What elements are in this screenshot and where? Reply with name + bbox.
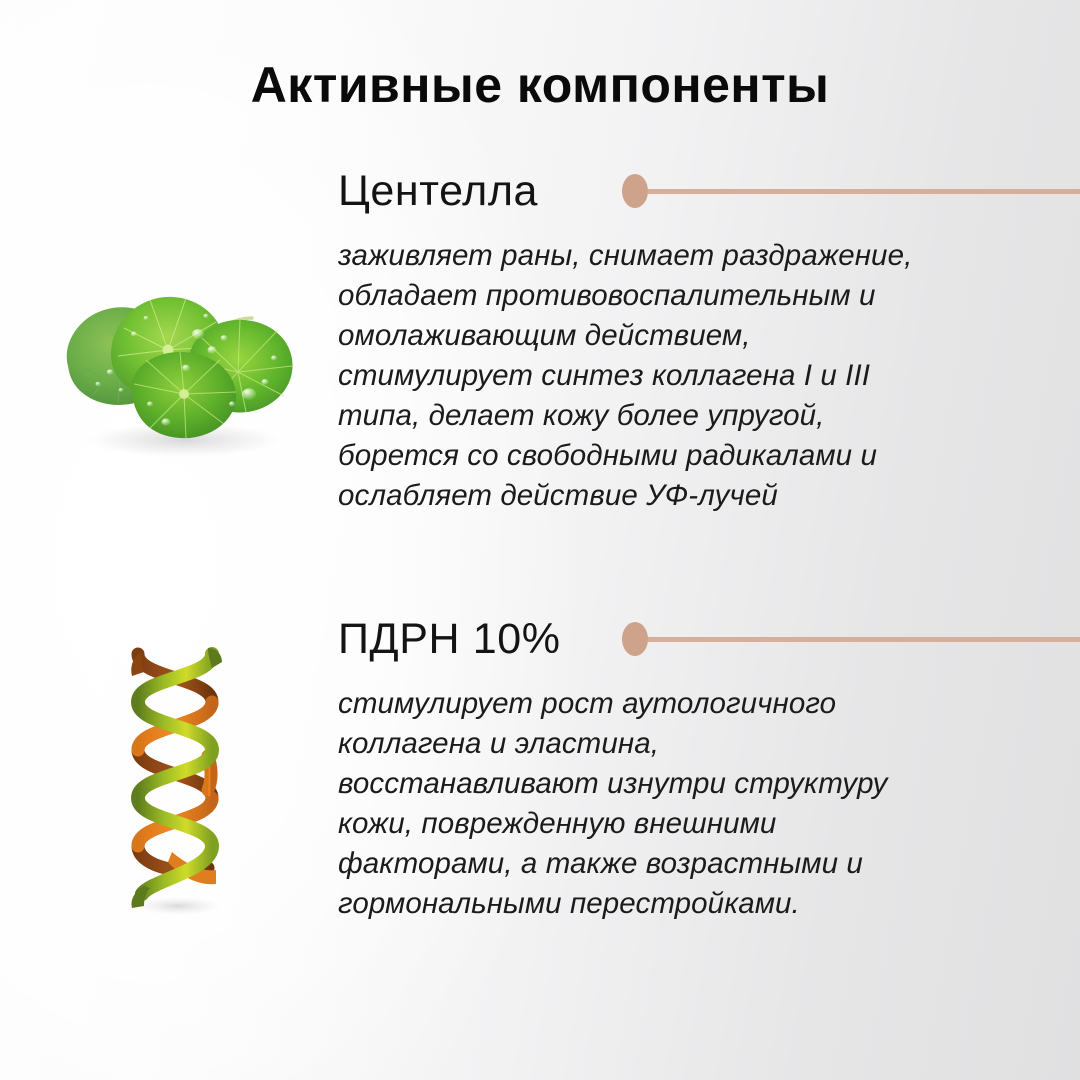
leaf-center-bottom-middle — [179, 389, 189, 399]
description-line: обладает противовоспалительным и — [338, 276, 1038, 316]
description-line: гормональными перестройками. — [338, 884, 1038, 924]
connector-line-pdrn — [622, 622, 1080, 656]
page-title: Активные компоненты — [0, 56, 1080, 114]
connector-dot-icon — [622, 622, 648, 656]
ingredient-description-pdrn: стимулирует рост аутологичного коллагена… — [338, 684, 1038, 924]
ingredient-name-pdrn: ПДРН 10% — [338, 618, 561, 661]
dna-helix-image — [112, 638, 240, 918]
ingredient-heading-row-pdrn: ПДРН 10% — [338, 608, 1080, 670]
ingredient-description-centella: заживляет раны, снимает раздражение, обл… — [338, 236, 1038, 516]
description-line: факторами, а также возрастными и — [338, 844, 1038, 884]
connector-line-centella — [622, 174, 1080, 208]
description-line: ослабляет действие УФ-лучей — [338, 476, 1038, 516]
ingredients-poster: Активные компоненты Центелла заживляет р… — [0, 0, 1080, 1080]
description-line: омолаживающим действием, — [338, 316, 1038, 356]
description-line: борется со свободными радикалами и — [338, 436, 1038, 476]
centella-leaves-image — [46, 272, 308, 462]
description-line: типа, делает кожу более упругой, — [338, 396, 1038, 436]
connector-rule — [648, 637, 1080, 642]
description-line: стимулирует синтез коллагена I и III — [338, 356, 1038, 396]
description-line: заживляет раны, снимает раздражение, — [338, 236, 1038, 276]
description-line: кожи, поврежденную внешними — [338, 804, 1038, 844]
ingredient-heading-row-centella: Центелла — [338, 160, 1080, 222]
description-line: стимулирует рост аутологичного — [338, 684, 1038, 724]
ingredient-name-centella: Центелла — [338, 170, 538, 213]
helix-shadow — [136, 897, 220, 915]
connector-rule — [648, 189, 1080, 194]
description-line: коллагена и эластина, — [338, 724, 1038, 764]
connector-dot-icon — [622, 174, 648, 208]
description-line: восстанавливают изнутри структуру — [338, 764, 1038, 804]
